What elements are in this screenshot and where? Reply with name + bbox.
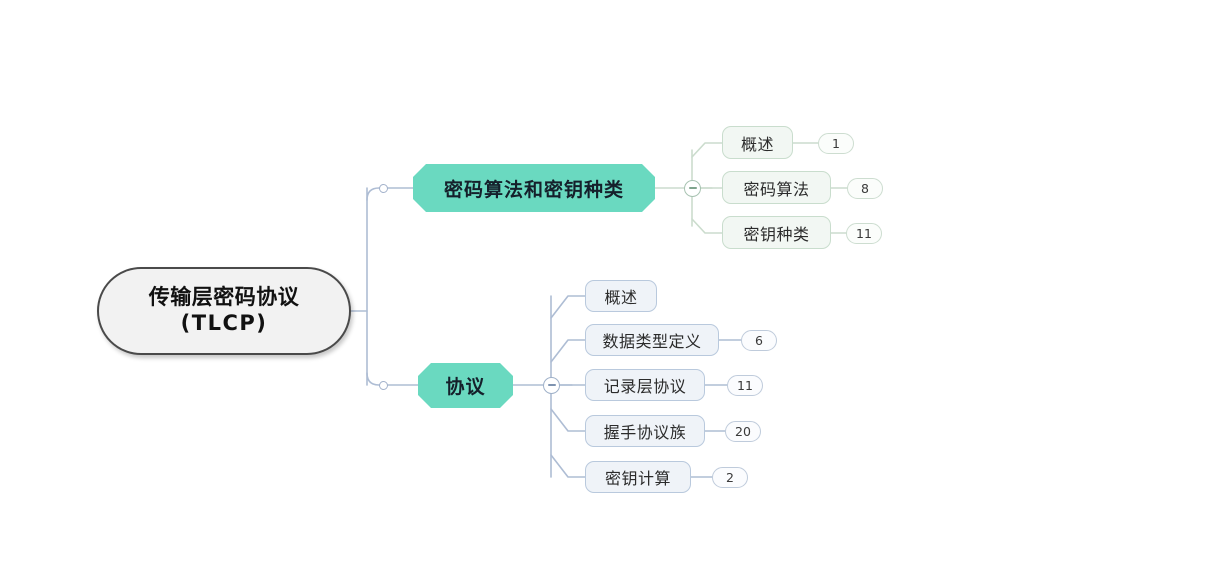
leaf-node-crypto-1[interactable]: 密码算法 [722, 171, 831, 204]
branch-node-crypto-label: 密码算法和密钥种类 [444, 175, 624, 202]
root-label-line2: (TLCP) [181, 311, 268, 337]
collapse-toggle-crypto[interactable] [684, 180, 701, 197]
leaf-node-protocol-1[interactable]: 数据类型定义 [585, 324, 719, 356]
count-badge-protocol-1[interactable]: 6 [741, 330, 777, 351]
minus-icon [689, 187, 697, 189]
leaf-node-crypto-2-label: 密钥种类 [743, 221, 809, 245]
leaf-node-protocol-2-label: 记录层协议 [604, 373, 687, 397]
leaf-node-crypto-2[interactable]: 密钥种类 [722, 216, 831, 249]
leaf-node-protocol-2[interactable]: 记录层协议 [585, 369, 705, 401]
root-label-line1: 传输层密码协议 [149, 285, 300, 311]
branch-junction-dot-2 [379, 381, 388, 390]
collapse-toggle-protocol[interactable] [543, 377, 560, 394]
count-badge-protocol-2[interactable]: 11 [727, 375, 763, 396]
leaf-node-protocol-0-label: 概述 [604, 284, 637, 308]
root-node[interactable]: 传输层密码协议 (TLCP) [97, 267, 351, 355]
count-badge-protocol-4[interactable]: 2 [712, 467, 748, 488]
leaf-node-protocol-0[interactable]: 概述 [585, 280, 657, 312]
count-badge-crypto-0[interactable]: 1 [818, 133, 854, 154]
leaf-node-protocol-3[interactable]: 握手协议族 [585, 415, 705, 447]
leaf-node-crypto-0-label: 概述 [741, 131, 774, 155]
minus-icon [548, 384, 556, 386]
count-badge-protocol-3[interactable]: 20 [725, 421, 761, 442]
branch-node-crypto[interactable]: 密码算法和密钥种类 [413, 164, 655, 212]
branch-node-protocol[interactable]: 协议 [418, 363, 513, 408]
count-badge-crypto-1[interactable]: 8 [847, 178, 883, 199]
leaf-node-protocol-3-label: 握手协议族 [604, 419, 687, 443]
count-badge-crypto-2[interactable]: 11 [846, 223, 882, 244]
branch-node-protocol-label: 协议 [445, 372, 485, 399]
leaf-node-crypto-0[interactable]: 概述 [722, 126, 793, 159]
branch-junction-dot-1 [379, 184, 388, 193]
leaf-node-protocol-1-label: 数据类型定义 [602, 328, 701, 352]
leaf-node-crypto-1-label: 密码算法 [743, 176, 809, 200]
leaf-node-protocol-4[interactable]: 密钥计算 [585, 461, 691, 493]
leaf-node-protocol-4-label: 密钥计算 [605, 465, 671, 489]
mindmap-canvas: 传输层密码协议 (TLCP) 密码算法和密钥种类 概述 1 密码算法 8 密钥种… [0, 0, 1206, 585]
